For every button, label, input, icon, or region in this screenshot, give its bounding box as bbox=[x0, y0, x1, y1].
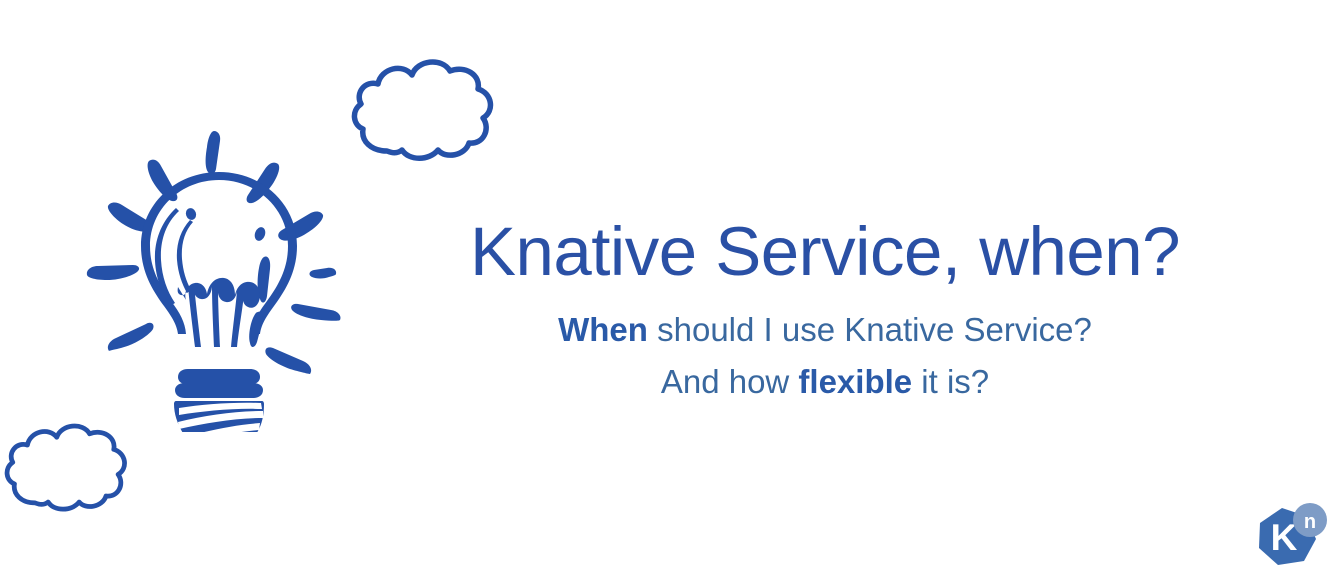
logo-badge-letter: n bbox=[1304, 511, 1316, 533]
subtitle-line-1: When should I use Knative Service? bbox=[380, 304, 1270, 356]
subtitle-block: When should I use Knative Service? And h… bbox=[380, 304, 1270, 408]
subtitle-line-1-bold: When bbox=[558, 311, 648, 348]
subtitle-line-2-prefix: And how bbox=[661, 363, 799, 400]
slide-canvas: Knative Service, when? When should I use… bbox=[0, 0, 1341, 585]
lightbulb-icon bbox=[78, 122, 360, 437]
knative-logo: K n bbox=[1248, 498, 1334, 583]
cloud-icon bbox=[345, 55, 505, 170]
subtitle-line-1-rest: should I use Knative Service? bbox=[648, 311, 1092, 348]
subtitle-line-2: And how flexible it is? bbox=[380, 356, 1270, 408]
page-title: Knative Service, when? bbox=[380, 215, 1270, 290]
subtitle-line-2-suffix: it is? bbox=[912, 363, 989, 400]
subtitle-line-2-bold: flexible bbox=[798, 363, 912, 400]
text-block: Knative Service, when? When should I use… bbox=[380, 215, 1270, 408]
